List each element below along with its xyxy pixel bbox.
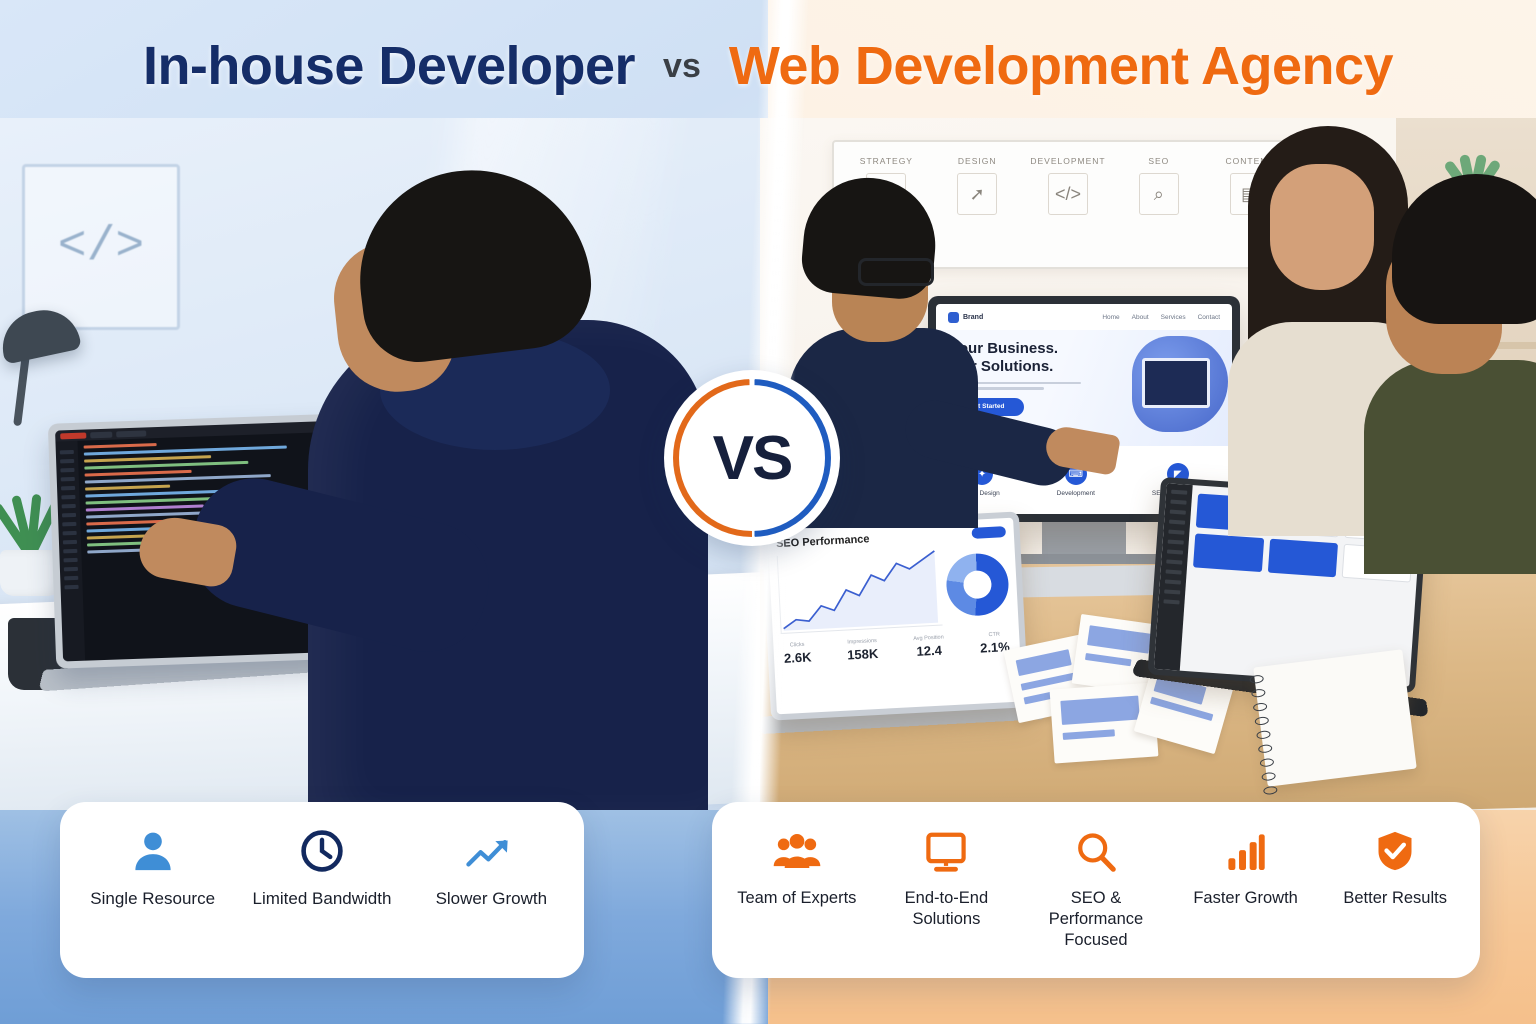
nav-link-about[interactable]: About [1132,314,1149,321]
in-house-developer-photo: </> [0,118,760,818]
feature-limited-bandwidth: Limited Bandwidth [252,826,392,910]
vs-badge: VS [664,370,840,546]
service-label: Development [1057,490,1095,497]
feature-label: SEO & Performance Focused [1022,888,1170,951]
member-hair [1392,174,1536,324]
eyeglasses-icon [858,258,934,286]
code-icon: </> [25,167,177,327]
feature-single-resource: Single Resource [83,826,223,910]
mockup-navbar: Brand Home About Services Contact [936,304,1232,330]
whiteboard-step-label: SEO [1148,156,1169,166]
agency-feature-card: Team of Experts End-to-End Solutions SEO… [712,802,1480,978]
shield-check-icon [1373,826,1417,874]
page-title-left: In-house Developer [143,35,635,97]
design-thumbnail[interactable] [1267,539,1338,578]
agency-member-seated [1370,174,1536,554]
whiteboard-step: DEVELOPMENT </> [1024,156,1113,267]
infographic-root: </> [0,0,1536,1024]
code-icon: </> [1048,173,1088,215]
kpi-label: Impressions [847,638,877,646]
member-face [1270,164,1374,290]
monitor-icon [923,826,969,874]
monitor-foot [1010,554,1160,564]
feature-slower-growth: Slower Growth [421,826,561,910]
vs-badge-label: VS [713,423,792,494]
feature-label: End-to-End Solutions [872,888,1020,930]
feature-label: Better Results [1343,888,1447,909]
feature-seo-performance: SEO & Performance Focused [1022,826,1170,951]
feature-faster-growth: Faster Growth [1172,826,1320,909]
kpi-value: 158K [847,646,879,663]
feature-label: Slower Growth [436,888,547,910]
agency-team-photo: STRATEGY ◎ DESIGN ➚ DEVELOPMENT </> SEO … [760,118,1536,818]
seo-line-chart [777,548,943,634]
kpi-label: Avg Position [913,634,944,642]
kpi-label: Clicks [790,642,805,649]
nav-link-services[interactable]: Services [1161,314,1186,321]
team-people-icon [772,826,822,874]
export-button[interactable] [971,526,1006,539]
kpi-clicks: Clicks 2.6K [783,641,812,665]
olive-shirt [1364,360,1536,574]
page-title-right: Web Development Agency [729,35,1393,97]
magnifier-icon [1073,826,1119,874]
magnifier-icon: ⌕ [1139,173,1179,215]
whiteboard-step: SEO ⌕ [1114,156,1203,267]
nav-link-contact[interactable]: Contact [1198,314,1220,321]
in-house-feature-card: Single Resource Limited Bandwidth Slower… [60,802,584,978]
vs-badge-inner: VS [679,385,825,531]
seo-dashboard-screen: SEO Performance [767,518,1022,715]
kpi-label: CTR [988,632,1000,639]
nav-link-home[interactable]: Home [1102,314,1119,321]
line-chart-svg [778,548,943,633]
feature-label: Single Resource [90,888,215,910]
mockup-nav-links: Home About Services Contact [1102,314,1220,321]
trend-up-arrow-icon [465,826,517,874]
monitor-stand [1042,522,1126,556]
hero-device-illustration [1142,358,1210,408]
whiteboard-step-label: DEVELOPMENT [1030,156,1105,166]
kpi-avg-position: Avg Position 12.4 [913,634,945,659]
header-title-bar: In-house Developer vs Web Development Ag… [0,0,1536,132]
spiral-notebook [1253,649,1417,786]
feature-better-results: Better Results [1321,826,1469,909]
whiteboard-step-label: DESIGN [958,156,997,166]
title-vs-label: vs [663,47,701,86]
in-house-developer-person [300,170,720,818]
code-wall-art-frame: </> [22,164,180,330]
feature-label: Limited Bandwidth [253,888,392,910]
seo-donut-chart [945,552,1010,617]
clock-icon [299,826,345,874]
seo-kpi-row: Clicks 2.6K Impressions 158K Avg Positio… [781,631,1012,666]
kpi-value: 2.6K [784,649,812,665]
developer-hair [348,157,599,369]
feature-end-to-end-solutions: End-to-End Solutions [872,826,1020,930]
person-icon [130,826,176,874]
feature-label: Faster Growth [1193,888,1298,909]
feature-label: Team of Experts [737,888,856,909]
feature-team-of-experts: Team of Experts [723,826,871,909]
bar-chart-icon [1224,826,1268,874]
design-thumbnail[interactable] [1193,533,1264,572]
kpi-impressions: Impressions 158K [846,638,878,663]
kpi-value: 12.4 [916,643,942,659]
whiteboard-step-label: STRATEGY [860,156,913,166]
